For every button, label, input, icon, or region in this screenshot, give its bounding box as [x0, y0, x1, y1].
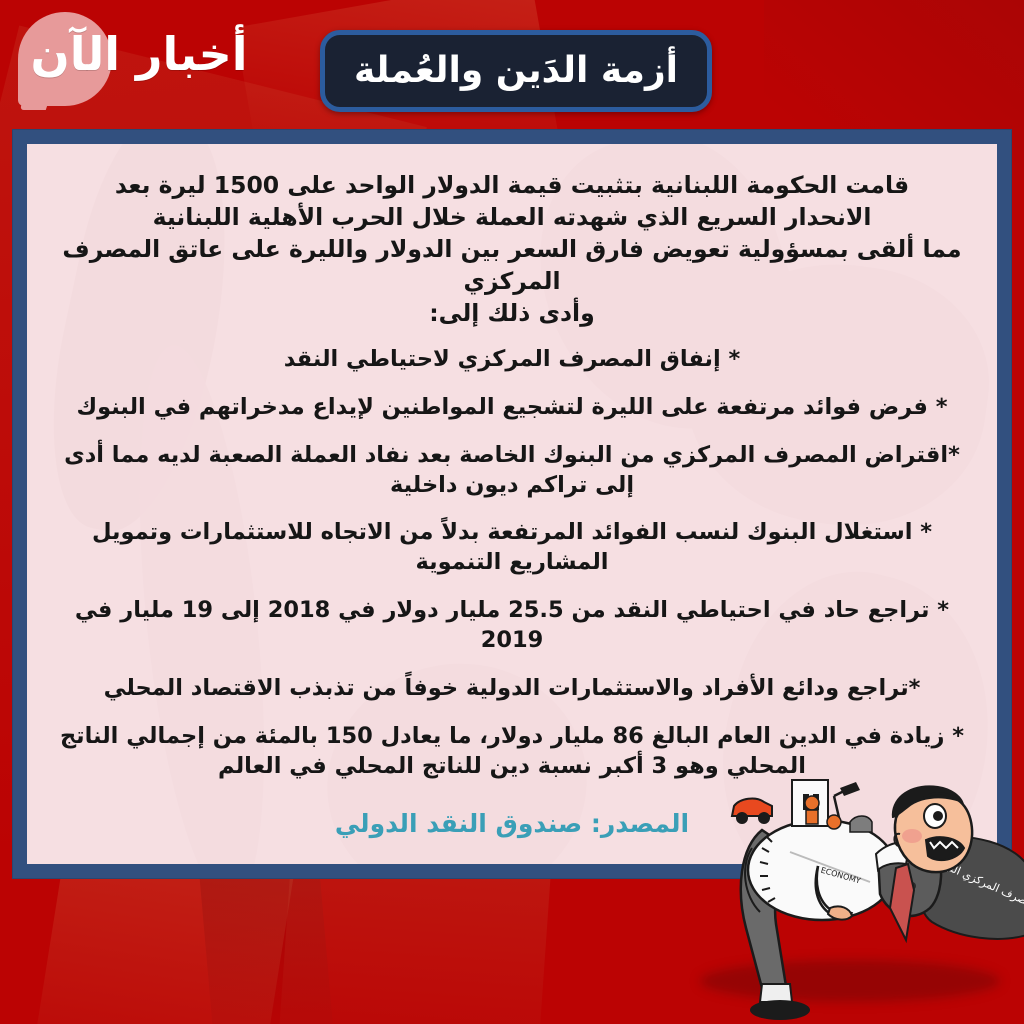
- infographic-poster: أخبار الآن أزمة الدَين والعُملة قامت الح…: [0, 0, 1024, 1024]
- content-panel: قامت الحكومة اللبنانية بتثبيت قيمة الدول…: [27, 144, 997, 864]
- intro-line: الانحدار السريع الذي شهدته العملة خلال ا…: [49, 202, 975, 234]
- list-item: * إنفاق المصرف المركزي لاحتياطي النقد: [49, 336, 975, 384]
- content-panel-frame: قامت الحكومة اللبنانية بتثبيت قيمة الدول…: [12, 129, 1012, 879]
- list-item: * زيادة في الدين العام البالغ 86 مليار د…: [49, 713, 975, 791]
- intro-paragraph: قامت الحكومة اللبنانية بتثبيت قيمة الدول…: [49, 170, 975, 330]
- intro-line: وأدى ذلك إلى:: [49, 298, 975, 330]
- page-title-plate: أزمة الدَين والعُملة: [320, 30, 712, 112]
- page-title: أزمة الدَين والعُملة: [354, 51, 678, 91]
- channel-logo: أخبار الآن: [14, 6, 264, 118]
- list-item: *تراجع ودائع الأفراد والاستثمارات الدولي…: [49, 665, 975, 713]
- list-item: * فرض فوائد مرتفعة على الليرة لتشجيع الم…: [49, 384, 975, 432]
- channel-logo-text: أخبار الآن: [14, 24, 264, 84]
- intro-line: قامت الحكومة اللبنانية بتثبيت قيمة الدول…: [49, 170, 975, 202]
- list-item: * تراجع حاد في احتياطي النقد من 25.5 ملي…: [49, 587, 975, 665]
- intro-line: مما ألقى بمسؤولية تعويض فارق السعر بين ا…: [49, 234, 975, 298]
- cartoon-floor-shadow: [700, 960, 1000, 1002]
- source-credit: المصدر: صندوق النقد الدولي: [49, 809, 975, 838]
- list-item: *اقتراض المصرف المركزي من البنوك الخاصة …: [49, 432, 975, 510]
- list-item: * استغلال البنوك لنسب الفوائد المرتفعة ب…: [49, 509, 975, 587]
- content-body: قامت الحكومة اللبنانية بتثبيت قيمة الدول…: [27, 144, 997, 848]
